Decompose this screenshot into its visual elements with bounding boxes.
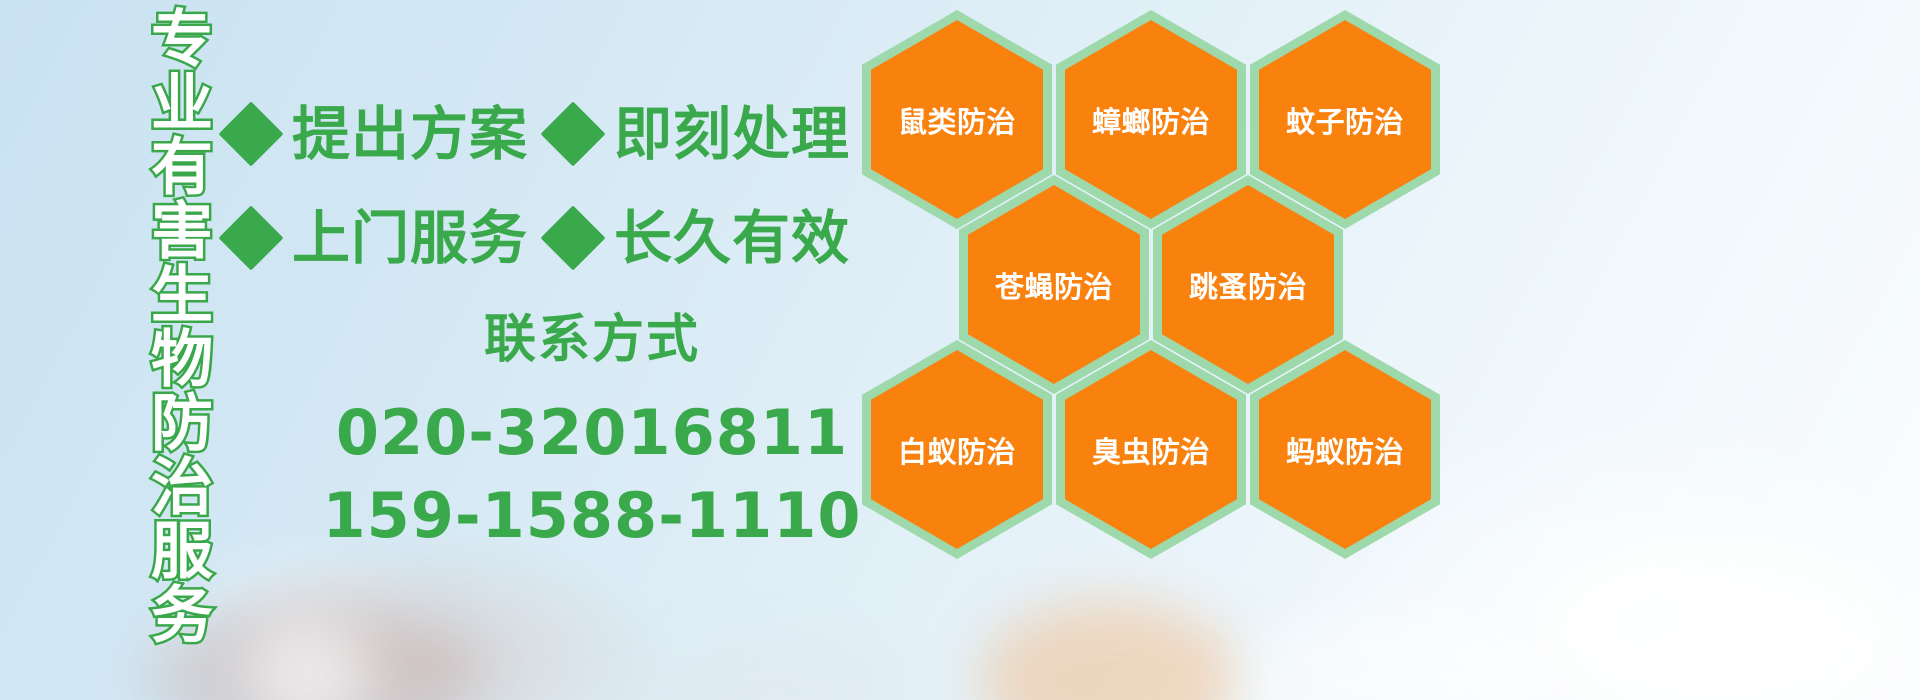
feature-label: 上门服务 <box>292 209 528 267</box>
service-honeycomb-grid: 鼠类防治 蟑螂防治 蚊子防治 苍蝇防治 跳蚤防治 白蚁防治 臭虫防治 蚂蚁 <box>862 0 1442 560</box>
feature-row: 提出方案 即刻处理 <box>228 82 868 186</box>
feature-list: 提出方案 即刻处理 上门服务 长久有效 <box>228 82 868 290</box>
feature-item: 提出方案 <box>228 105 528 163</box>
service-hex-label: 白蚁防治 <box>898 429 1016 471</box>
feature-item: 上门服务 <box>228 209 528 267</box>
service-hex-label: 蚂蚁防治 <box>1286 429 1404 471</box>
service-hex-label: 臭虫防治 <box>1092 429 1210 471</box>
service-hex-label: 苍蝇防治 <box>995 264 1113 306</box>
service-hex-label: 跳蚤防治 <box>1189 264 1307 306</box>
feature-label: 长久有效 <box>614 209 850 267</box>
feature-item: 长久有效 <box>550 209 850 267</box>
phone-number-mobile[interactable]: 159-1588-1110 <box>312 474 872 557</box>
feature-label: 提出方案 <box>292 105 528 163</box>
diamond-bullet-icon <box>540 101 605 166</box>
feature-item: 即刻处理 <box>550 105 850 163</box>
service-hex-label: 蚊子防治 <box>1286 99 1404 141</box>
background-blur-shape <box>1540 540 1900 700</box>
contact-heading: 联系方式 <box>312 312 872 369</box>
background-blur-shape <box>980 600 1240 700</box>
background-blur-shape <box>250 620 370 700</box>
pest-control-service-banner: 专业有害生物防治服务 提出方案 即刻处理 上门服务 长久有效 联系方式 0 <box>0 0 1920 700</box>
vertical-title: 专业有害生物防治服务 <box>104 6 208 646</box>
contact-block: 联系方式 020-32016811 159-1588-1110 <box>312 312 872 557</box>
diamond-bullet-icon <box>218 205 283 270</box>
background-blur-shape <box>640 640 900 700</box>
service-hex-label: 鼠类防治 <box>898 99 1016 141</box>
diamond-bullet-icon <box>218 101 283 166</box>
feature-label: 即刻处理 <box>614 105 850 163</box>
phone-number-landline[interactable]: 020-32016811 <box>312 391 872 474</box>
background-blur-shape <box>1240 610 1560 700</box>
feature-row: 上门服务 长久有效 <box>228 186 868 290</box>
service-hex-label: 蟑螂防治 <box>1092 99 1210 141</box>
diamond-bullet-icon <box>540 205 605 270</box>
